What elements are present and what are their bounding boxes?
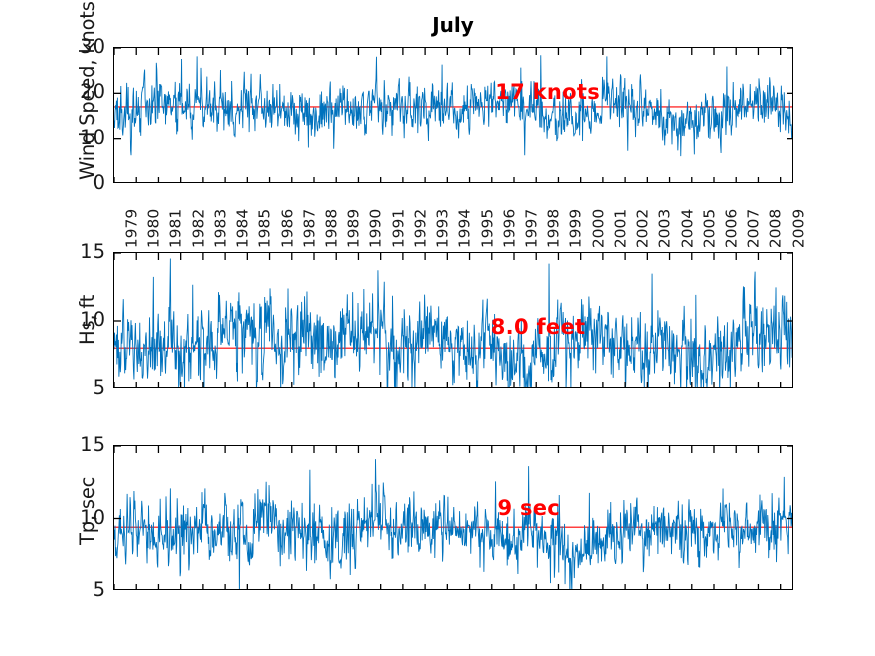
x-tick-label: 1980 — [147, 209, 163, 248]
x-tick-label: 1990 — [369, 209, 385, 248]
y-tick-label: 5 — [53, 580, 105, 600]
x-tick-label: 2001 — [614, 209, 630, 248]
timeseries-line — [114, 55, 793, 156]
x-tick-label: 1993 — [436, 209, 452, 248]
x-tick-label: 1987 — [302, 209, 318, 248]
x-tick-label: 1985 — [258, 209, 274, 248]
x-tick-label: 1996 — [502, 209, 518, 248]
timeseries-line — [114, 259, 793, 388]
x-tick-label: 2002 — [636, 209, 652, 248]
x-tick-label: 1982 — [191, 209, 207, 248]
x-tick-label: 2000 — [591, 209, 607, 248]
y-tick-label: 30 — [53, 37, 105, 57]
x-tick-label: 1997 — [525, 209, 541, 248]
x-tick-label: 1984 — [236, 209, 252, 248]
y-tick-label: 5 — [53, 378, 105, 398]
x-tick-label: 1983 — [214, 209, 230, 248]
x-tick-label: 1981 — [169, 209, 185, 248]
x-tick-label: 2008 — [769, 209, 785, 248]
wind-speed-series-svg — [114, 48, 793, 183]
figure-canvas: July Wind Speed, knots 0102030 197919801… — [0, 0, 875, 656]
wave-height-series-svg — [114, 253, 793, 388]
x-tick-label: 1994 — [458, 209, 474, 248]
x-tick-label: 1998 — [547, 209, 563, 248]
x-tick-label: 1999 — [569, 209, 585, 248]
x-tick-label: 2003 — [658, 209, 674, 248]
chart-title: July — [113, 13, 793, 37]
plot-area-wind-speed — [113, 47, 793, 183]
y-tick-label: 0 — [53, 173, 105, 193]
annotation-wave-period: 9 sec — [497, 496, 560, 520]
annotation-wind-speed: 17 knots — [495, 80, 600, 104]
y-tick-label: 20 — [53, 82, 105, 102]
x-tick-label: 1979 — [125, 209, 141, 248]
plot-area-wave-height — [113, 252, 793, 388]
x-tick-label: 1989 — [347, 209, 363, 248]
y-tick-label: 10 — [53, 508, 105, 528]
x-tick-label: 2007 — [747, 209, 763, 248]
x-tick-label: 2004 — [680, 209, 696, 248]
y-tick-label: 15 — [53, 435, 105, 455]
x-tick-label: 1995 — [480, 209, 496, 248]
plot-area-wave-period — [113, 445, 793, 590]
timeseries-line — [114, 459, 793, 590]
annotation-wave-height: 8.0 feet — [491, 315, 586, 339]
x-tick-label: 1986 — [280, 209, 296, 248]
x-tick-label: 2006 — [725, 209, 741, 248]
x-tick-label: 2009 — [791, 209, 807, 248]
x-tick-label: 1992 — [414, 209, 430, 248]
x-tick-label: 2005 — [702, 209, 718, 248]
y-tick-label: 10 — [53, 310, 105, 330]
x-tick-label: 1988 — [325, 209, 341, 248]
y-tick-label: 15 — [53, 242, 105, 262]
x-tick-label: 1991 — [391, 209, 407, 248]
y-tick-label: 10 — [53, 128, 105, 148]
wave-period-series-svg — [114, 446, 793, 590]
